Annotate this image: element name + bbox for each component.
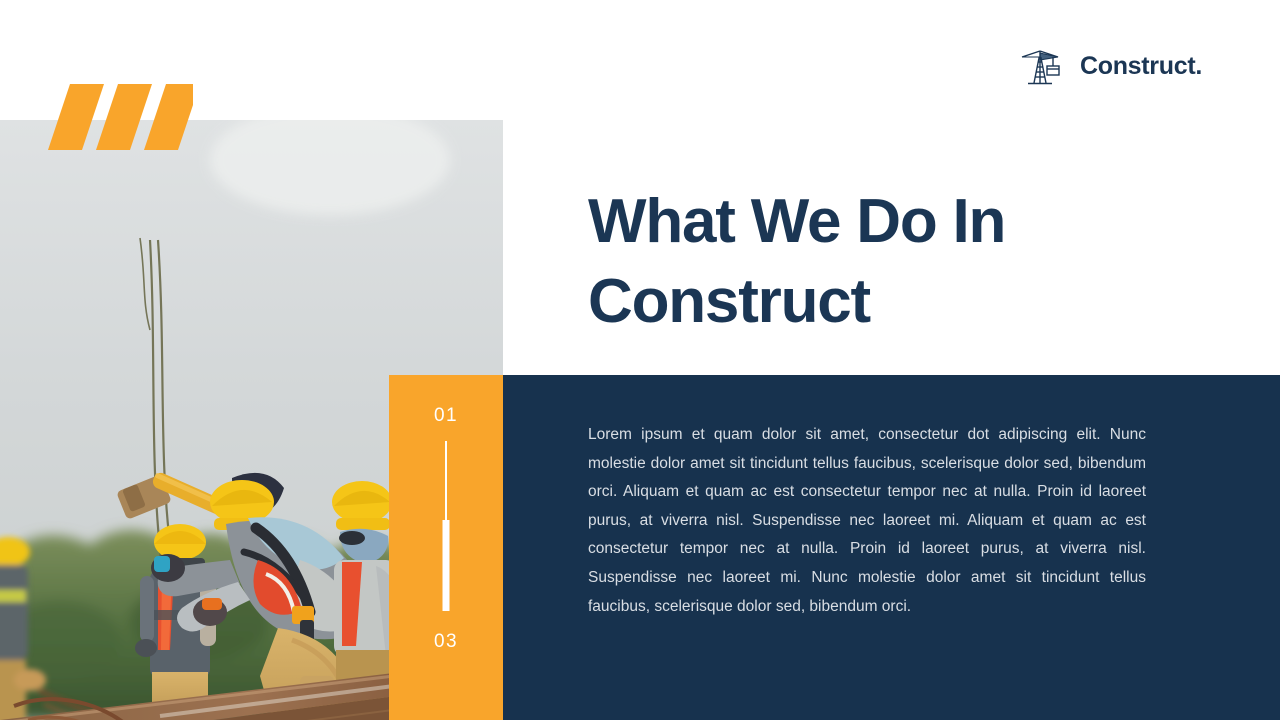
three-diagonal-stripes-icon xyxy=(48,84,193,150)
step-label-top: 01 xyxy=(434,406,458,425)
step-slider[interactable]: 01 03 xyxy=(389,375,503,720)
step-label-bottom: 03 xyxy=(434,632,458,651)
brand-logo[interactable]: Construct. xyxy=(1020,44,1202,88)
body-paragraph: Lorem ipsum et quam dolor sit amet, cons… xyxy=(588,421,1146,621)
slider-thumb[interactable] xyxy=(443,520,450,611)
slider-track[interactable] xyxy=(442,441,451,611)
page-title: What We Do In Construct xyxy=(588,182,1148,342)
crane-tower-icon xyxy=(1020,44,1066,88)
brand-name: Construct. xyxy=(1080,52,1202,81)
